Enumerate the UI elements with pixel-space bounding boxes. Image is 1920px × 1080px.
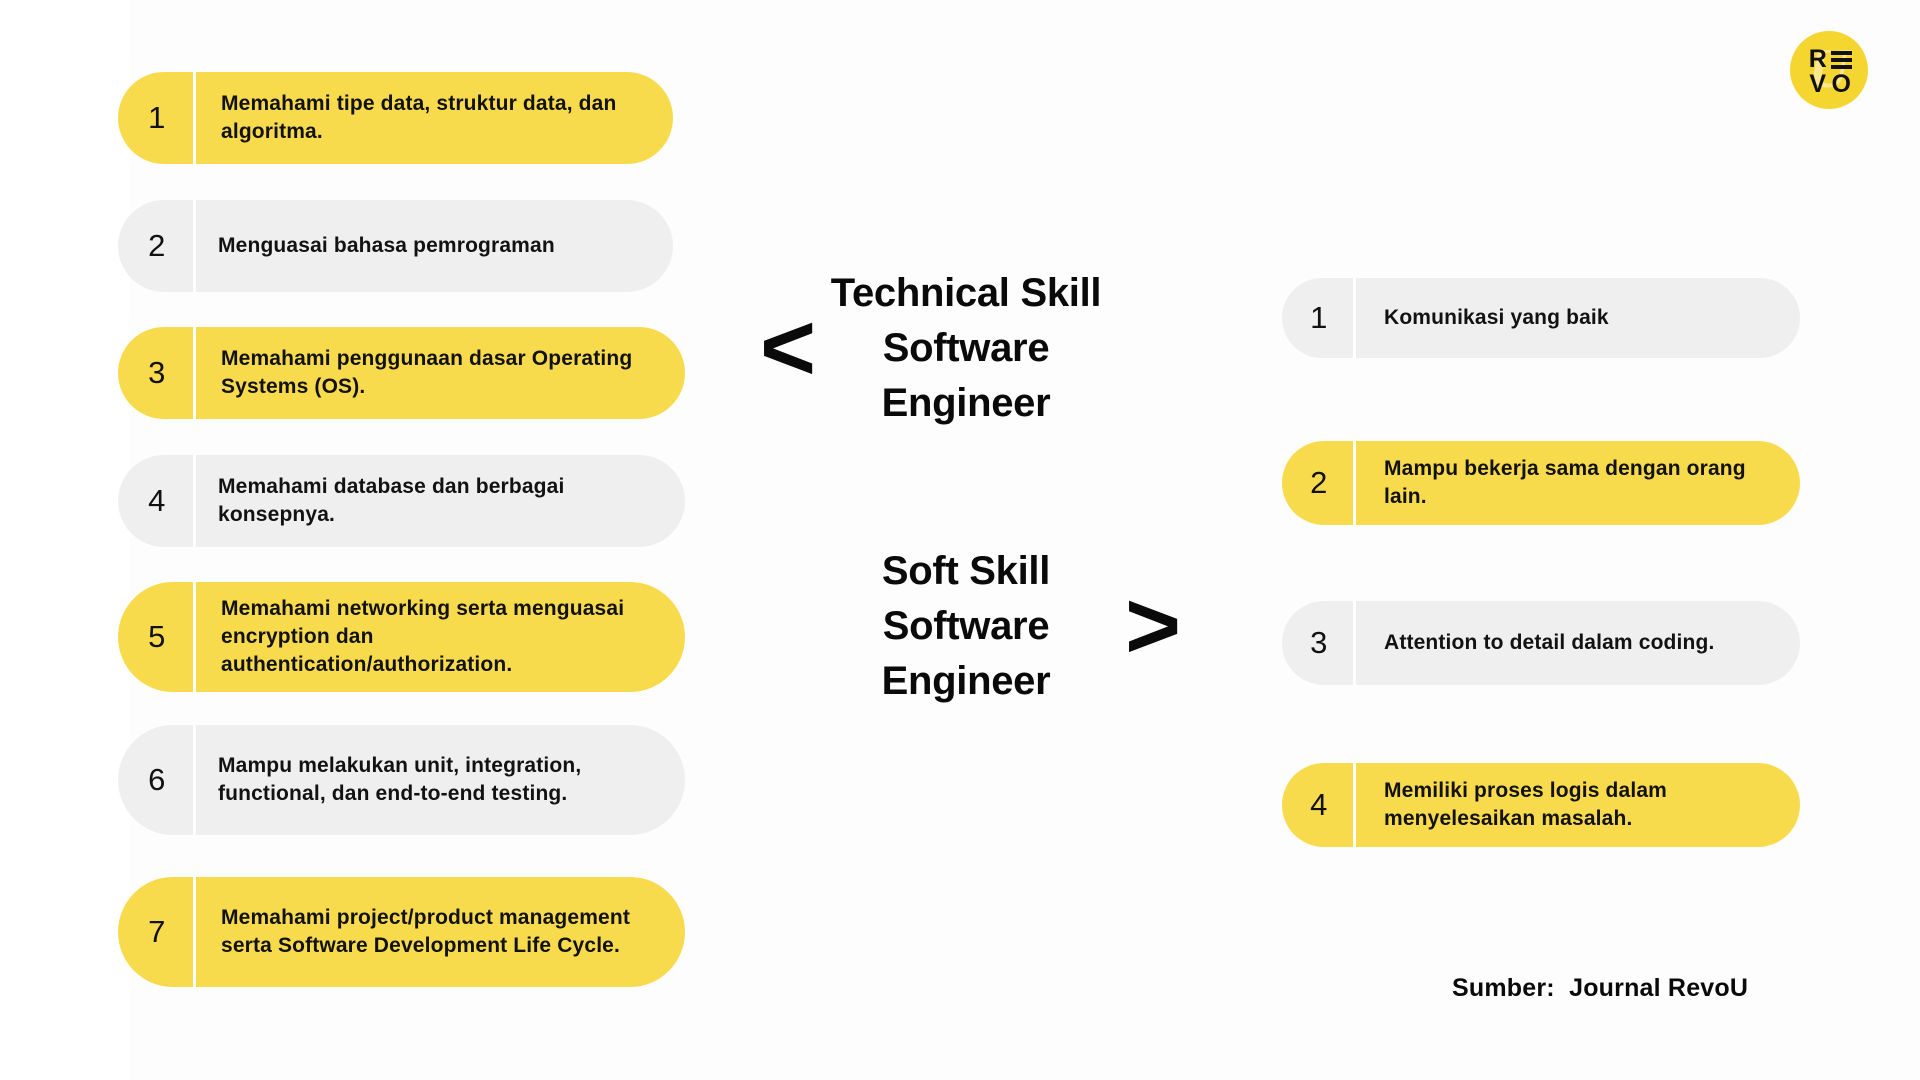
soft-skill-item-3: 3 Attention to detail dalam coding. bbox=[1282, 601, 1800, 685]
item-number: 2 bbox=[118, 200, 196, 292]
revou-logo[interactable]: U R V O bbox=[1790, 31, 1868, 109]
technical-skill-item-1: 1 Memahami tipe data, struktur data, dan… bbox=[118, 72, 673, 164]
item-text: Memahami tipe data, struktur data, dan a… bbox=[196, 72, 673, 164]
item-text: Attention to detail dalam coding. bbox=[1356, 601, 1800, 685]
item-number: 6 bbox=[118, 725, 196, 835]
item-text: Komunikasi yang baik bbox=[1356, 278, 1800, 358]
soft-skill-item-4: 4 Memiliki proses logis dalam menyelesai… bbox=[1282, 763, 1800, 847]
technical-skill-item-5: 5 Memahami networking serta menguasai en… bbox=[118, 582, 685, 692]
logo-letter-r: R bbox=[1809, 47, 1827, 72]
heading-line: Software bbox=[806, 599, 1126, 654]
technical-skill-item-4: 4 Memahami database dan berbagai konsepn… bbox=[118, 455, 685, 547]
item-text: Memahami networking serta menguasai encr… bbox=[196, 582, 685, 692]
chevron-right-icon: > bbox=[1125, 578, 1181, 674]
technical-skill-item-2: 2 Menguasai bahasa pemrograman bbox=[118, 200, 673, 292]
item-text: Memahami penggunaan dasar Operating Syst… bbox=[196, 327, 685, 419]
heading-line: Engineer bbox=[806, 376, 1126, 431]
technical-skill-item-7: 7 Memahami project/product management se… bbox=[118, 877, 685, 987]
technical-skill-heading: Technical Skill Software Engineer bbox=[806, 266, 1126, 432]
item-number: 4 bbox=[118, 455, 196, 547]
item-number: 7 bbox=[118, 877, 196, 987]
soft-skill-heading: Soft Skill Software Engineer bbox=[806, 544, 1126, 710]
item-number: 1 bbox=[118, 72, 196, 164]
item-number: 5 bbox=[118, 582, 196, 692]
item-number: 4 bbox=[1282, 763, 1356, 847]
technical-skill-item-3: 3 Memahami penggunaan dasar Operating Sy… bbox=[118, 327, 685, 419]
item-text: Menguasai bahasa pemrograman bbox=[196, 200, 673, 292]
logo-letter-v: V bbox=[1809, 72, 1826, 97]
soft-skill-item-1: 1 Komunikasi yang baik bbox=[1282, 278, 1800, 358]
heading-line: Software bbox=[806, 321, 1126, 376]
source-note: Sumber: Journal RevoU bbox=[1452, 974, 1748, 1003]
logo-letter-e-icon bbox=[1831, 51, 1852, 69]
item-number: 1 bbox=[1282, 278, 1356, 358]
item-number: 3 bbox=[1282, 601, 1356, 685]
technical-skill-item-6: 6 Mampu melakukan unit, integration, fun… bbox=[118, 725, 685, 835]
heading-line: Engineer bbox=[806, 654, 1126, 709]
soft-skill-item-2: 2 Mampu bekerja sama dengan orang lain. bbox=[1282, 441, 1800, 525]
item-text: Memahami project/product management sert… bbox=[196, 877, 685, 987]
item-number: 2 bbox=[1282, 441, 1356, 525]
item-text: Mampu melakukan unit, integration, funct… bbox=[196, 725, 685, 835]
heading-line: Technical Skill bbox=[806, 266, 1126, 321]
heading-line: Soft Skill bbox=[806, 544, 1126, 599]
item-text: Mampu bekerja sama dengan orang lain. bbox=[1356, 441, 1800, 525]
item-text: Memahami database dan berbagai konsepnya… bbox=[196, 455, 685, 547]
item-number: 3 bbox=[118, 327, 196, 419]
logo-letter-o: O bbox=[1832, 72, 1851, 97]
item-text: Memiliki proses logis dalam menyelesaika… bbox=[1356, 763, 1800, 847]
infographic-canvas: 1 Memahami tipe data, struktur data, dan… bbox=[0, 0, 1920, 1080]
logo-letter-grid: R V O bbox=[1790, 31, 1868, 109]
